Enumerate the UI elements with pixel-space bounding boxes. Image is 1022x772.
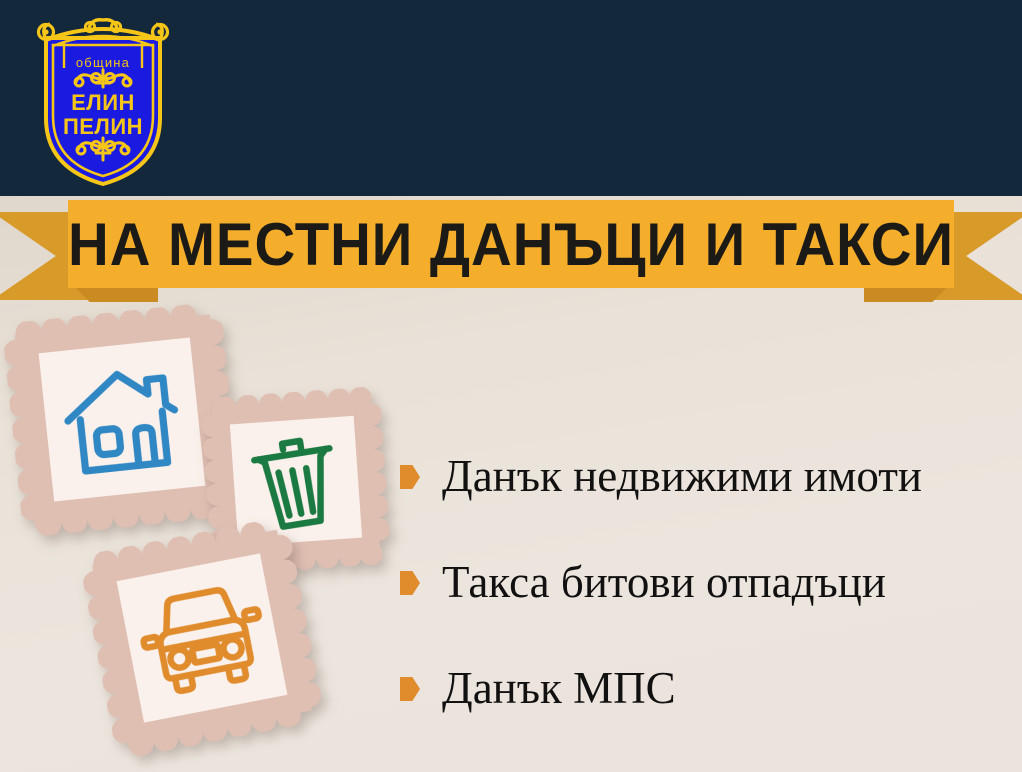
list-item[interactable]: Такса битови отпадъци	[400, 530, 1010, 636]
svg-text:община: община	[76, 55, 130, 70]
arrow-bullet-icon	[400, 571, 420, 595]
poster-canvas: ПРОВЕРКА И ПЛАЩАНЕ НА ЗАДЪЛЖЕНИЯ	[0, 0, 1022, 772]
tax-type-list: Данък недвижими имоти Такса битови отпад…	[400, 424, 1010, 742]
arrow-bullet-icon	[400, 677, 420, 701]
list-item-label: Такса битови отпадъци	[442, 559, 886, 606]
list-item[interactable]: Данък недвижими имоти	[400, 424, 1010, 530]
arrow-bullet-icon	[400, 465, 420, 489]
ribbon-banner: НА МЕСТНИ ДАНЪЦИ И ТАКСИ	[0, 198, 1022, 310]
municipality-crest-logo: община ЕЛИН ПЕЛИН	[24, 10, 182, 190]
svg-text:ЕЛИН: ЕЛИН	[71, 90, 135, 115]
svg-text:ПЕЛИН: ПЕЛИН	[63, 114, 143, 139]
list-item-label: Данък МПС	[442, 665, 676, 712]
list-item-label: Данък недвижими имоти	[442, 453, 922, 500]
list-item[interactable]: Данък МПС	[400, 636, 1010, 742]
stamp-car	[78, 516, 326, 761]
ribbon-subtitle: НА МЕСТНИ ДАНЪЦИ И ТАКСИ	[95, 200, 928, 288]
